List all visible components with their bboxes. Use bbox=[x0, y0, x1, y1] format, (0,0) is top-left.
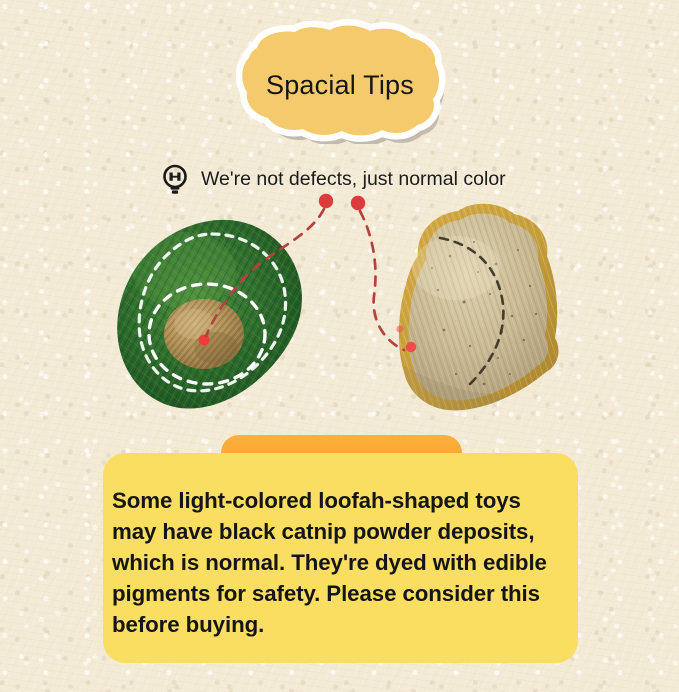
toast-loofah-toy bbox=[378, 198, 586, 426]
note-line-3: which is normal. They're dyed with edibl… bbox=[112, 547, 556, 578]
note-line-4: pigments for safety. Please consider thi… bbox=[112, 578, 556, 609]
avocado-loofah-toy bbox=[112, 212, 332, 427]
toast-marker-dot bbox=[406, 342, 416, 352]
avocado-marker-dot bbox=[199, 335, 210, 346]
note-line-2: may have black catnip powder deposits, bbox=[112, 516, 556, 547]
note-line-5: before buying. bbox=[112, 609, 556, 640]
tip-text: We're not defects, just normal color bbox=[201, 168, 506, 191]
toast-marker-dot-faint bbox=[396, 325, 403, 332]
disclaimer-note: Some light-colored loofah-shaped toys ma… bbox=[103, 453, 578, 663]
lightbulb-icon bbox=[158, 162, 192, 196]
title-banner: Spacial Tips bbox=[231, 18, 449, 144]
banner-title-text: Spacial Tips bbox=[231, 70, 449, 101]
infographic-page: Spacial Tips We're not defects, just nor… bbox=[0, 0, 679, 692]
note-line-1: Some light-colored loofah-shaped toys bbox=[112, 485, 556, 516]
callout-dot-right bbox=[351, 196, 365, 210]
tip-callout-row: We're not defects, just normal color bbox=[158, 162, 506, 196]
